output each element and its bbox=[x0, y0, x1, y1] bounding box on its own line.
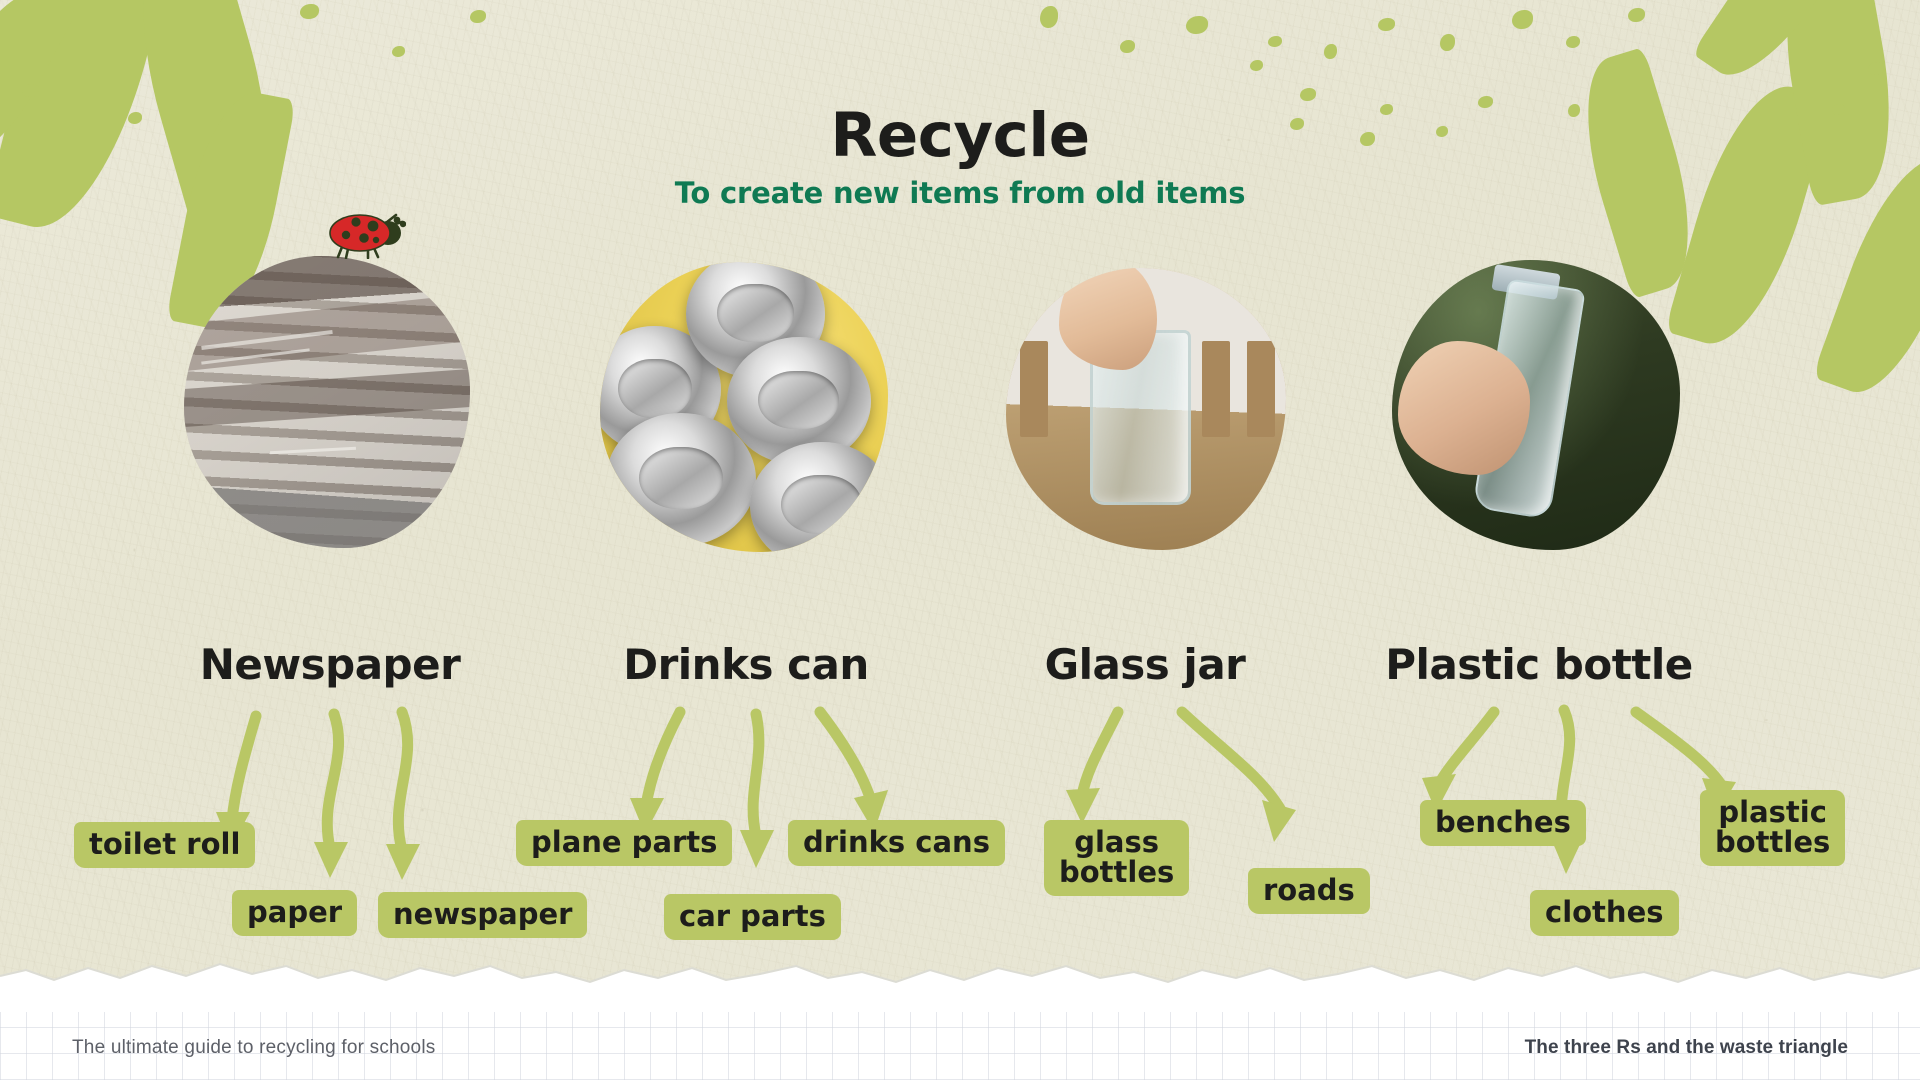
arrow-head bbox=[1262, 800, 1296, 842]
output-tag-glass-bottles: glass bottles bbox=[1044, 820, 1189, 896]
output-tag-car-parts: car parts bbox=[664, 894, 841, 940]
arrow-head bbox=[1066, 788, 1100, 824]
output-tag-plastic-bottles: plastic bottles bbox=[1700, 790, 1845, 866]
curved-arrow bbox=[398, 712, 407, 850]
page-title: Recycle bbox=[0, 100, 1920, 171]
output-tag-benches: benches bbox=[1420, 800, 1586, 846]
ladybug-icon bbox=[324, 211, 406, 259]
plastic-bottle-photo bbox=[1392, 260, 1680, 550]
item-label-newspaper: Newspaper bbox=[140, 640, 520, 689]
item-label-drinks-can: Drinks can bbox=[556, 640, 936, 689]
curved-arrow bbox=[327, 714, 338, 848]
output-tag-drinks-cans: drinks cans bbox=[788, 820, 1005, 866]
output-tag-paper: paper bbox=[232, 890, 357, 936]
arrow-head bbox=[314, 842, 348, 878]
leaf-speck bbox=[1040, 6, 1058, 28]
curved-arrow bbox=[1182, 712, 1282, 812]
newspaper-photo bbox=[184, 256, 470, 548]
item-label-plastic-bottle: Plastic bottle bbox=[1356, 640, 1722, 689]
leaf-speck bbox=[470, 10, 486, 23]
curved-arrow bbox=[820, 712, 872, 804]
curved-arrow bbox=[1438, 712, 1494, 786]
output-tag-plane-parts: plane parts bbox=[516, 820, 732, 866]
output-tag-clothes: clothes bbox=[1530, 890, 1679, 936]
curved-arrow bbox=[1636, 712, 1722, 786]
leaf-speck bbox=[1186, 16, 1208, 34]
drinks-can-photo bbox=[600, 262, 888, 552]
leaf-speck bbox=[300, 4, 319, 19]
leaf-speck bbox=[1120, 40, 1135, 53]
curved-arrow bbox=[753, 714, 759, 836]
leaf-speck bbox=[1628, 8, 1645, 22]
footer-right-text: The three Rs and the waste triangle bbox=[1525, 1037, 1848, 1059]
leaf-speck bbox=[1250, 60, 1263, 71]
paper-background: Recycle To create new items from old ite… bbox=[0, 0, 1920, 1000]
footer-left-text: The ultimate guide to recycling for scho… bbox=[72, 1037, 435, 1059]
torn-paper-edge bbox=[0, 960, 1920, 1012]
arrow-head bbox=[386, 844, 420, 880]
arrow-head bbox=[740, 830, 774, 868]
leaf-speck bbox=[1324, 44, 1337, 59]
output-tag-toilet-roll: toilet roll bbox=[74, 822, 255, 868]
glass-jar-photo bbox=[1006, 268, 1286, 550]
item-label-glass-jar: Glass jar bbox=[962, 640, 1328, 689]
curved-arrow bbox=[646, 712, 680, 806]
leaf-speck bbox=[1440, 34, 1455, 51]
leaf-speck bbox=[1378, 18, 1395, 31]
output-tag-roads: roads bbox=[1248, 868, 1370, 914]
output-tag-newspaper: newspaper bbox=[378, 892, 587, 938]
leaf-speck bbox=[1268, 36, 1282, 47]
leaf-speck bbox=[1512, 10, 1533, 29]
curved-arrow bbox=[232, 716, 256, 820]
leaf-speck bbox=[392, 46, 405, 57]
curved-arrow bbox=[1082, 712, 1118, 796]
leaf-speck bbox=[1566, 36, 1580, 48]
page-subtitle: To create new items from old items bbox=[0, 176, 1920, 210]
